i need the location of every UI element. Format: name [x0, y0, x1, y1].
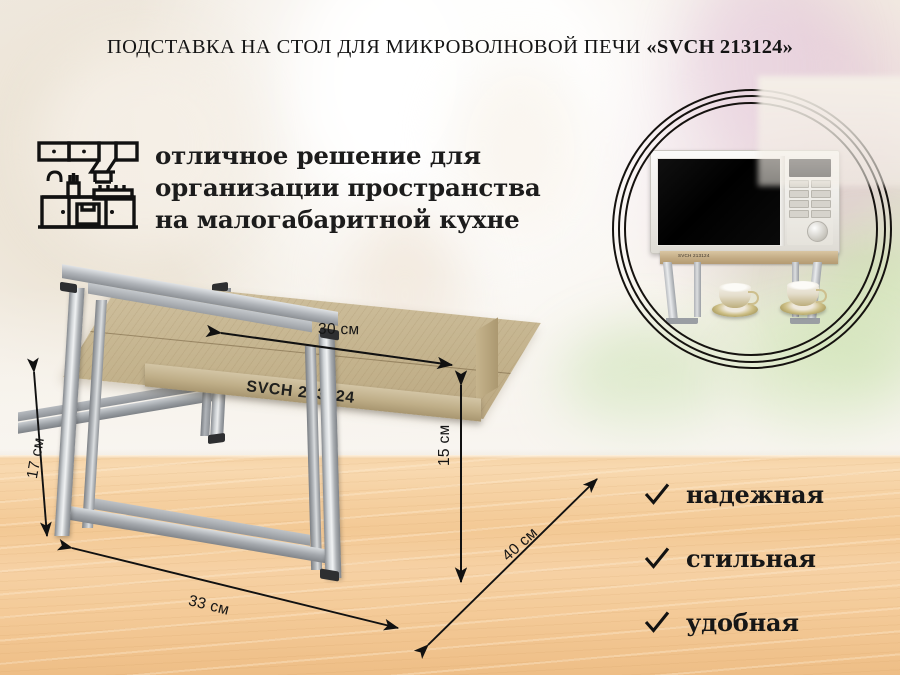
ring-fade-mask: [758, 76, 900, 186]
check-icon: [644, 481, 670, 507]
feature-label: стильная: [686, 544, 816, 573]
title-prefix: ПОДСТАВКА НА СТОЛ ДЛЯ МИКРОВОЛНОВОЙ ПЕЧИ: [107, 36, 647, 58]
feature-item: стильная: [644, 526, 884, 590]
feature-label: удобная: [686, 608, 799, 637]
tagline-line-1: отличное решение для: [155, 140, 585, 172]
microwave-on-stand-photo: SVCH 213124: [618, 92, 890, 370]
feature-list: надежная стильная удобная: [644, 462, 884, 654]
stand-top-right-edge: [476, 317, 498, 400]
dimension-label-clearance-height: 15 см: [436, 425, 454, 466]
tagline: отличное решение для организации простра…: [155, 140, 585, 236]
dimension-label-width-top: 30 см: [318, 321, 360, 340]
check-icon: [644, 545, 670, 571]
page-title: ПОДСТАВКА НА СТОЛ ДЛЯ МИКРОВОЛНОВОЙ ПЕЧИ…: [0, 36, 900, 59]
feature-item: удобная: [644, 590, 884, 654]
title-model-name: «SVCH 213124»: [646, 36, 793, 58]
tagline-line-3: на малогабаритной кухне: [155, 204, 585, 236]
product-photo: SVCH 213124: [58, 288, 628, 648]
infographic-canvas: ПОДСТАВКА НА СТОЛ ДЛЯ МИКРОВОЛНОВОЙ ПЕЧИ…: [0, 0, 900, 675]
feature-label: надежная: [686, 480, 824, 509]
kitchen-interior-icon: [36, 136, 140, 234]
tagline-line-2: организации пространства: [155, 172, 585, 204]
check-icon: [644, 609, 670, 635]
stand-front-leg-frame: [58, 478, 348, 675]
feature-item: надежная: [644, 462, 884, 526]
